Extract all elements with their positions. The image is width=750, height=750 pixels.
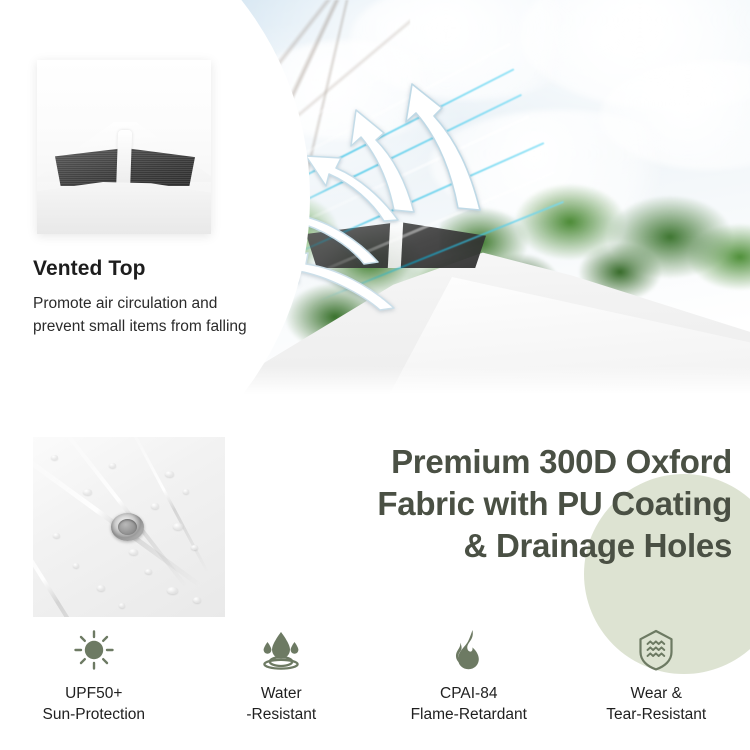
feature-label: Wear & Tear-Resistant xyxy=(606,683,706,725)
water-bead xyxy=(129,549,138,555)
feature-label: Water -Resistant xyxy=(246,683,316,725)
headline-line: Fabric with PU Coating xyxy=(252,483,732,525)
water-bead xyxy=(145,569,152,574)
fabric-crease xyxy=(33,498,106,617)
water-bead xyxy=(151,503,159,509)
feature-water-resistant: Water -Resistant xyxy=(188,624,376,750)
feature-wear-tear-resistant: Wear & Tear-Resistant xyxy=(563,624,750,750)
water-bead xyxy=(191,545,198,550)
infographic-canvas: Vented Top Promote air circulation and p… xyxy=(0,0,750,750)
water-bead xyxy=(83,489,92,495)
feature-label-line: Water xyxy=(246,683,316,704)
water-bead xyxy=(109,463,116,468)
water-bead xyxy=(167,587,178,594)
water-bead xyxy=(193,597,201,603)
vented-top-inset-photo xyxy=(37,60,211,234)
feature-label-line: Wear & xyxy=(606,683,706,704)
drainage-grommet xyxy=(111,513,144,541)
white-left-mask xyxy=(0,0,40,402)
fabric-crease xyxy=(127,437,209,573)
feature-label-line: Sun-Protection xyxy=(42,704,145,725)
feature-label-line: CPAI-84 xyxy=(411,683,527,704)
photo-bottom-fade xyxy=(0,366,750,402)
water-bead xyxy=(51,455,58,460)
shield-waves-icon xyxy=(634,624,678,676)
feature-label: UPF50+ Sun-Protection xyxy=(42,683,145,725)
feature-label-line: -Resistant xyxy=(246,704,316,725)
feature-upf50-sun-protection: UPF50+ Sun-Protection xyxy=(0,624,188,750)
headline-line: Premium 300D Oxford xyxy=(252,441,732,483)
water-bead xyxy=(53,533,60,538)
vented-top-description: Promote air circulation and prevent smal… xyxy=(33,292,248,338)
feature-flame-retardant: CPAI-84 Flame-Retardant xyxy=(375,624,563,750)
feature-icon-row: UPF50+ Sun-Protection Water -Resistant xyxy=(0,624,750,750)
description-line: Promote air circulation xyxy=(33,295,187,312)
feature-label: CPAI-84 Flame-Retardant xyxy=(411,683,527,725)
feature-label-line: Tear-Resistant xyxy=(606,704,706,725)
headline-line: & Drainage Holes xyxy=(252,525,732,567)
water-bead xyxy=(183,489,189,494)
fabric-closeup-photo xyxy=(33,437,225,617)
sun-icon xyxy=(72,624,116,676)
feature-label-line: Flame-Retardant xyxy=(411,704,527,725)
water-bead xyxy=(173,523,183,530)
feature-label-line: UPF50+ xyxy=(42,683,145,704)
water-drop-icon xyxy=(259,624,303,676)
water-bead xyxy=(119,603,125,608)
flame-icon xyxy=(447,624,491,676)
main-headline: Premium 300D Oxford Fabric with PU Coati… xyxy=(252,441,732,567)
water-bead xyxy=(73,563,79,568)
water-bead xyxy=(97,585,105,591)
vented-top-title: Vented Top xyxy=(33,257,146,281)
description-line: from falling xyxy=(171,318,247,335)
canopy-skirt xyxy=(37,178,211,234)
water-bead xyxy=(165,471,174,477)
